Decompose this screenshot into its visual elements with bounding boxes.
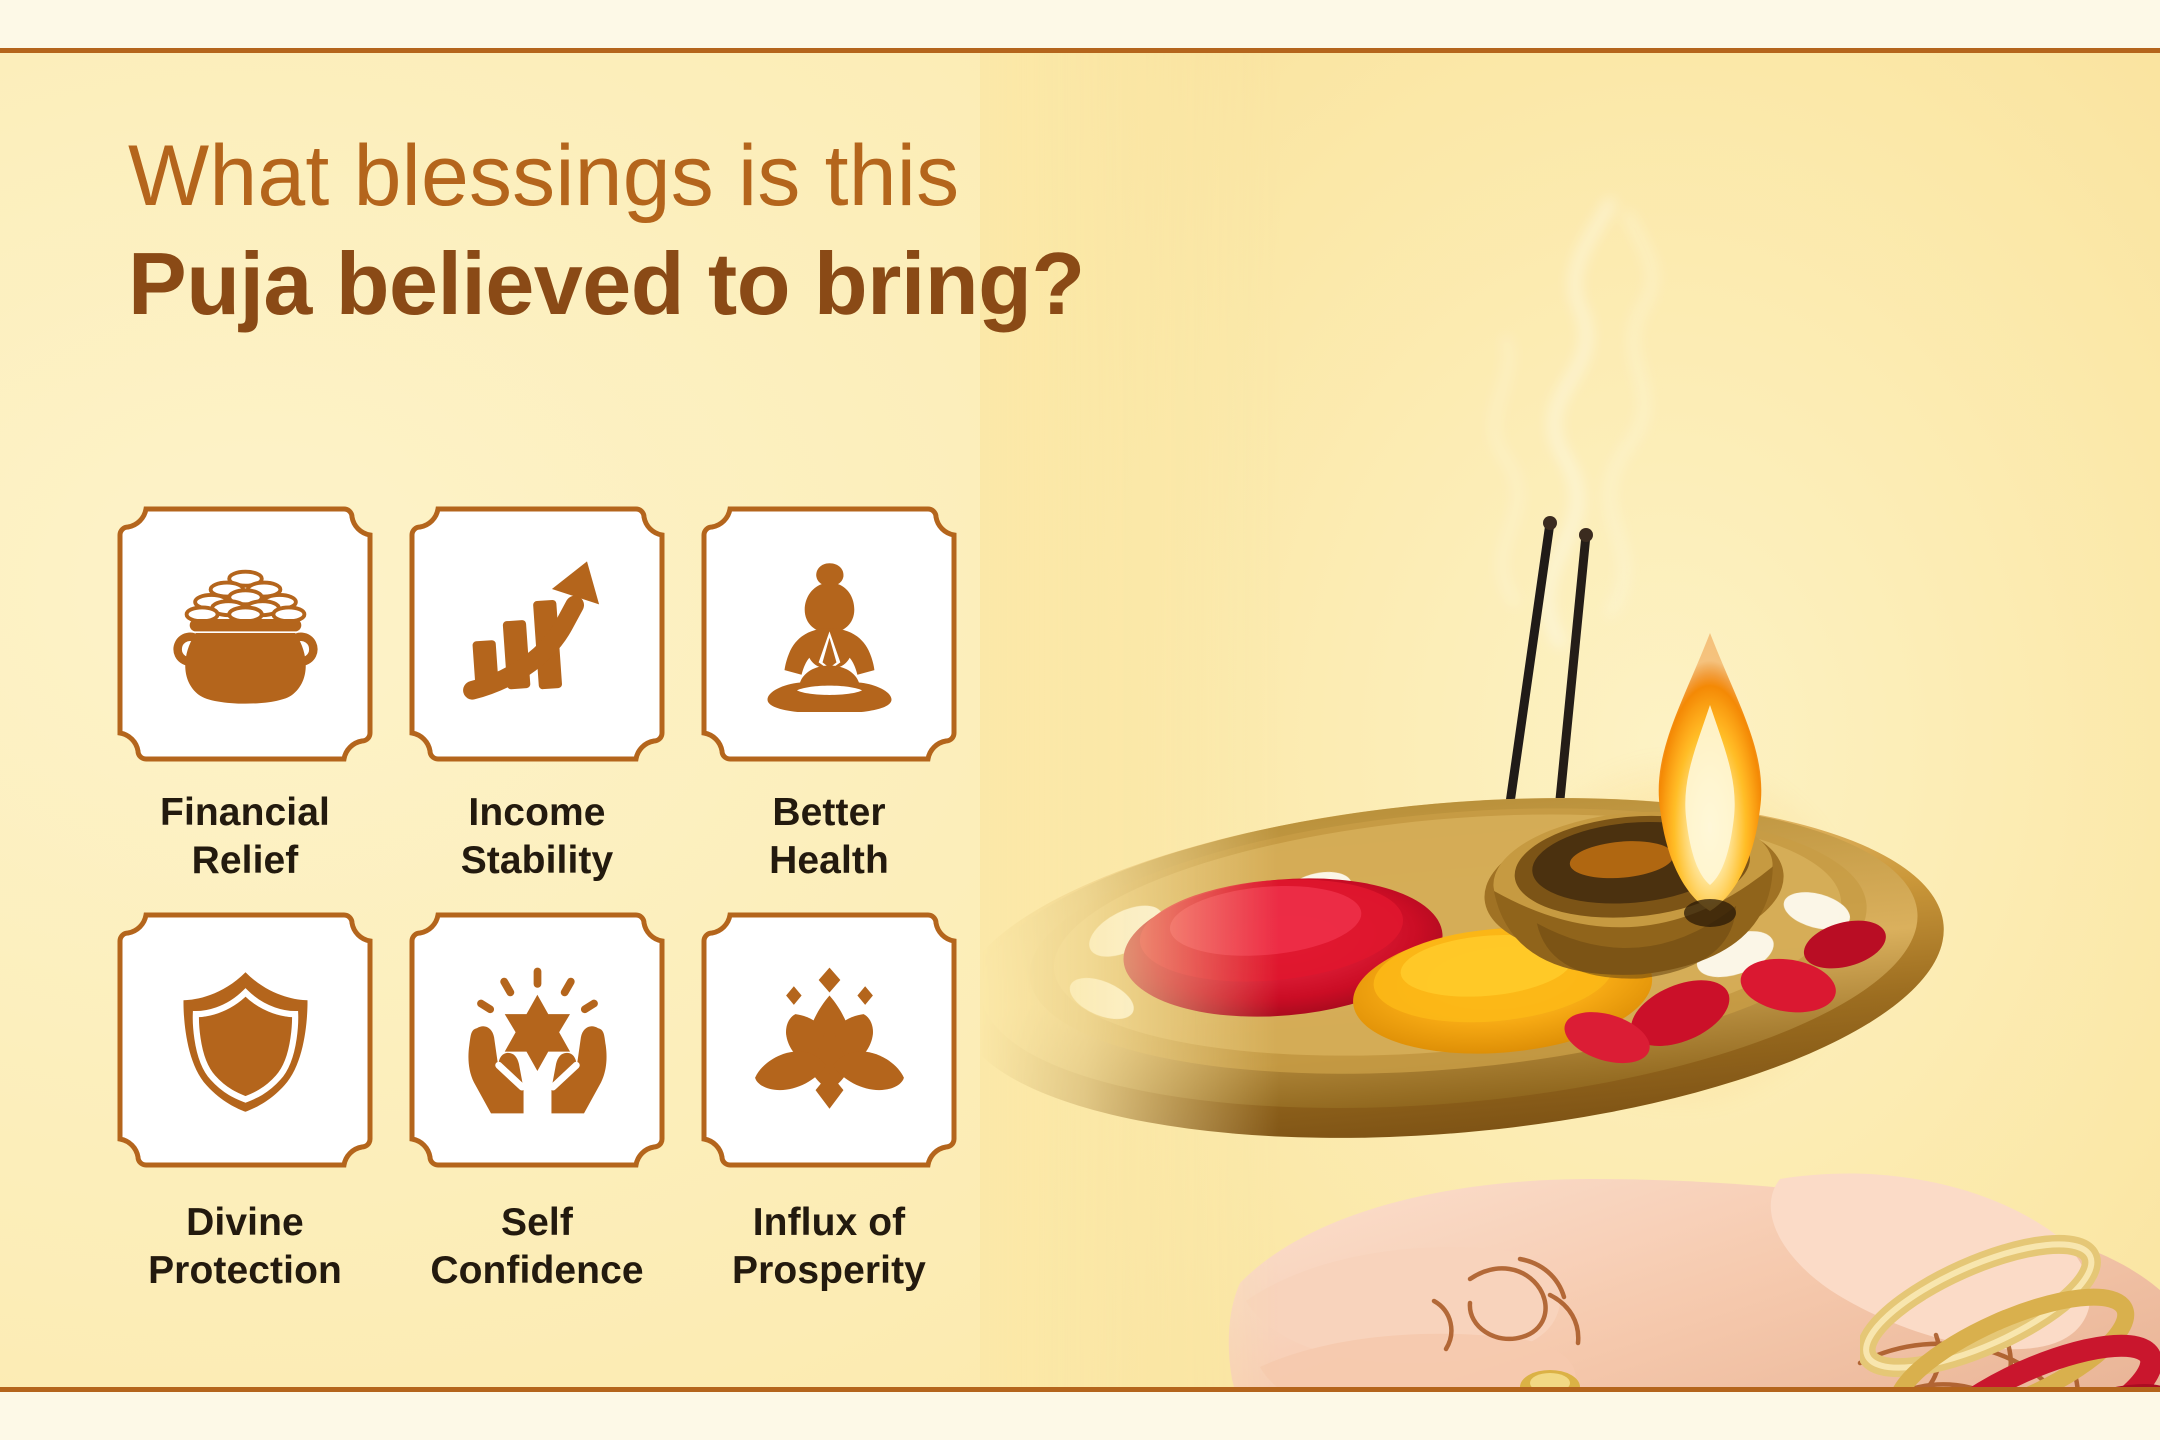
benefit-label: Self Confidence (430, 1199, 643, 1296)
benefit-label-line-2: Prosperity (732, 1247, 926, 1295)
benefit-label-line-1: Better (769, 789, 889, 837)
benefit-item-financial-relief[interactable]: Financial Relief (112, 505, 378, 893)
benefit-label-line-1: Income (461, 789, 614, 837)
benefit-label-line-2: Protection (148, 1247, 342, 1295)
hands-star-icon (460, 963, 615, 1118)
lotus-icon (752, 963, 907, 1118)
benefit-tile (700, 911, 958, 1169)
shield-icon (168, 963, 323, 1118)
benefit-tile (116, 505, 374, 763)
benefit-item-divine-protection[interactable]: Divine Protection (112, 911, 378, 1299)
diya-flame-icon (1610, 613, 1810, 943)
benefit-label-line-1: Divine (148, 1199, 342, 1247)
benefit-item-influx-of-prosperity[interactable]: Influx of Prosperity (696, 911, 962, 1299)
money-pot-icon (168, 557, 323, 712)
benefit-label-line-1: Self (430, 1199, 643, 1247)
benefit-tile (700, 505, 958, 763)
benefit-label: Financial Relief (160, 789, 330, 886)
headline-line-1: What blessings is this (128, 133, 1085, 221)
benefit-label-line-2: Stability (461, 837, 614, 885)
benefit-label: Better Health (769, 789, 889, 886)
benefit-tile (408, 911, 666, 1169)
benefit-label-line-2: Confidence (430, 1247, 643, 1295)
growth-chart-icon (460, 557, 615, 712)
puja-thali-photo (980, 53, 2160, 1387)
benefit-label-line-2: Relief (160, 837, 330, 885)
bangles-icon (1860, 1223, 2160, 1387)
headline-line-2: Puja believed to bring? (128, 239, 1085, 329)
benefit-item-better-health[interactable]: Better Health (696, 505, 962, 893)
poster-root: What blessings is this Puja believed to … (0, 0, 2160, 1440)
benefit-item-income-stability[interactable]: Income Stability (404, 505, 670, 893)
benefit-label-line-1: Financial (160, 789, 330, 837)
benefits-grid: Financial Relief (112, 505, 962, 1299)
benefit-item-self-confidence[interactable]: Self Confidence (404, 911, 670, 1299)
benefit-label: Income Stability (461, 789, 614, 886)
benefit-label: Influx of Prosperity (732, 1199, 926, 1296)
meditation-icon (752, 557, 907, 712)
benefit-tile (408, 505, 666, 763)
bottom-divider-rule (0, 1387, 2160, 1392)
main-panel: What blessings is this Puja believed to … (0, 53, 2160, 1387)
benefit-label-line-1: Influx of (732, 1199, 926, 1247)
benefit-label-line-2: Health (769, 837, 889, 885)
benefit-label: Divine Protection (148, 1199, 342, 1296)
benefit-tile (116, 911, 374, 1169)
headline-block: What blessings is this Puja believed to … (128, 133, 1085, 328)
